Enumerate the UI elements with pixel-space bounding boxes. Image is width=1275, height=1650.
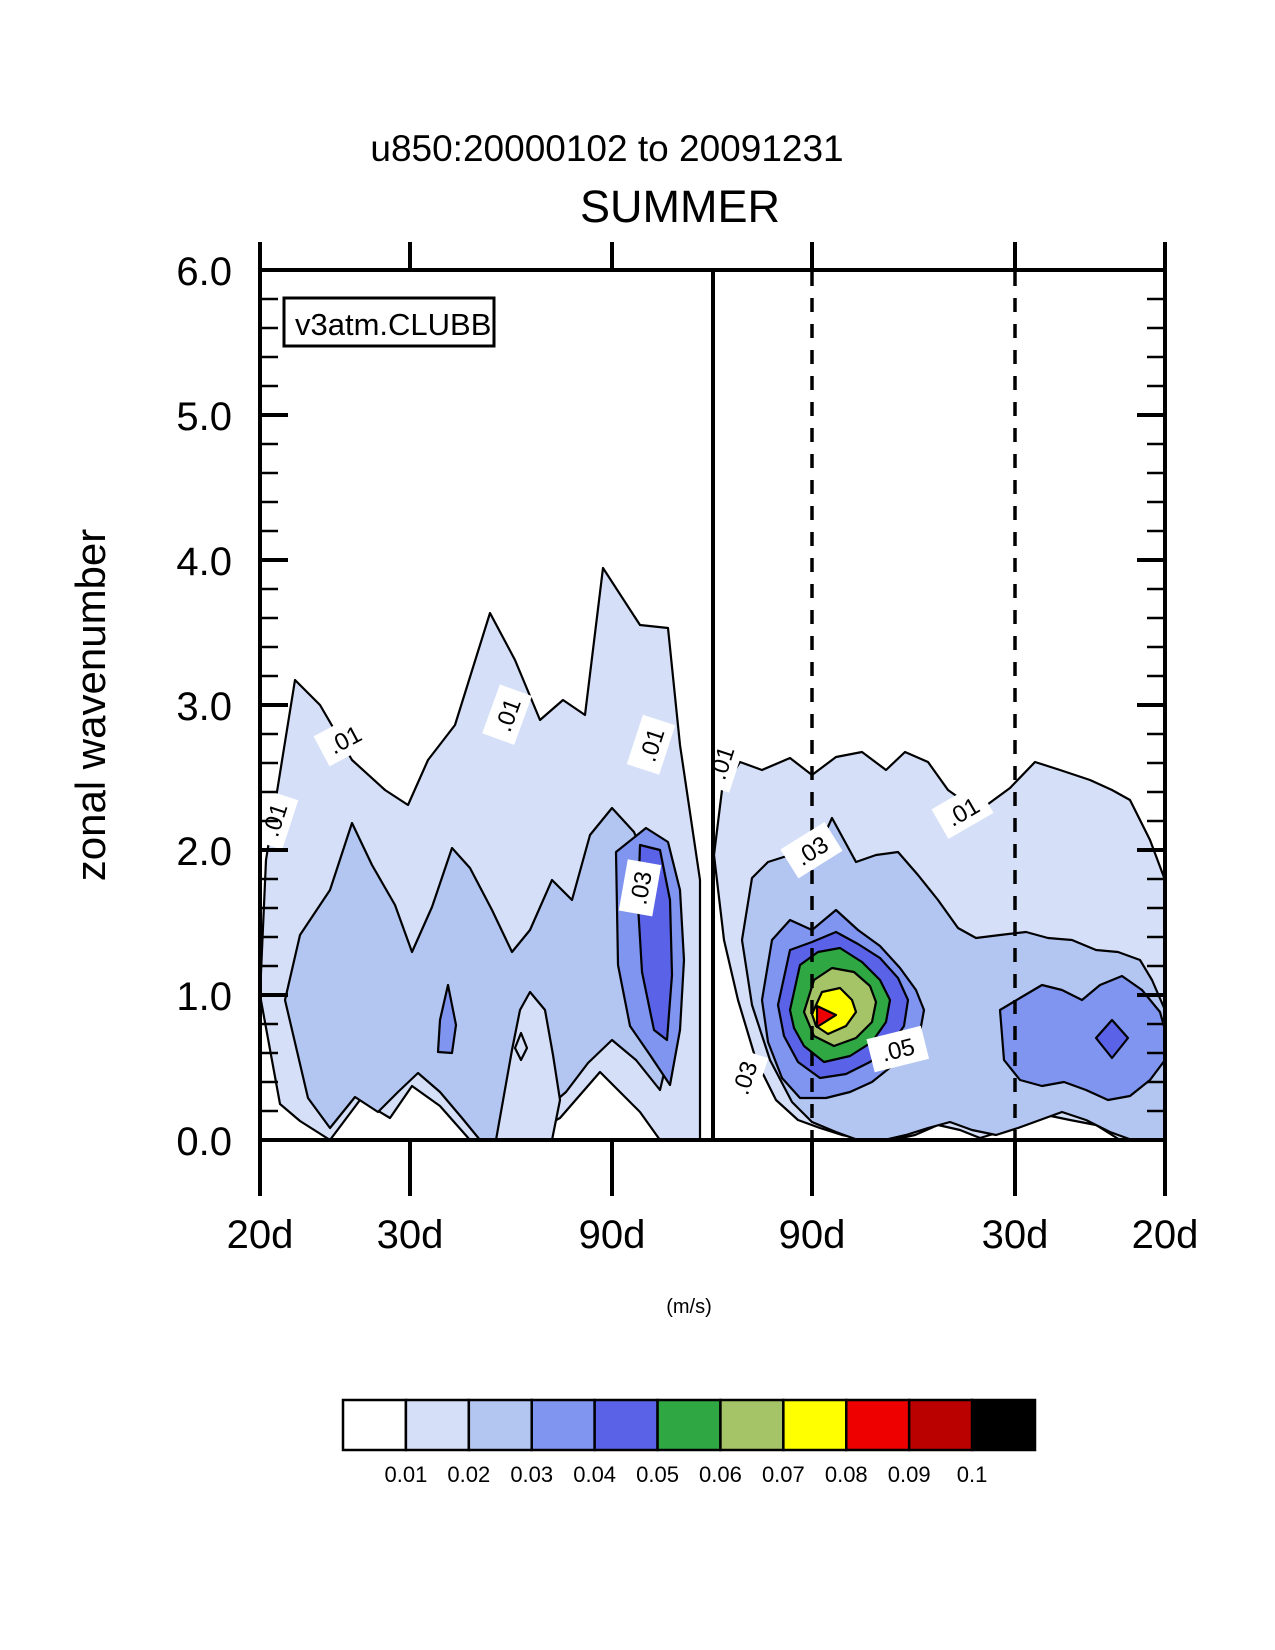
- colorbar-cell: [343, 1400, 406, 1450]
- y-tick-0: 0.0: [176, 1120, 232, 1164]
- y-tick-4: 4.0: [176, 540, 232, 584]
- colorbar-tick-label: 0.07: [762, 1462, 805, 1487]
- colorbar-tick-label: 0.06: [699, 1462, 742, 1487]
- y-axis-label: zonal wavenumber: [67, 529, 114, 882]
- colorbar-tick-label: 0.03: [510, 1462, 553, 1487]
- y-axis-label-group: zonal wavenumber: [67, 529, 114, 882]
- y-tick-3: 3.0: [176, 685, 232, 729]
- figure-root: u850:20000102 to 20091231 SUMMER zonal w…: [0, 0, 1275, 1650]
- x-tick-right-1: 30d: [982, 1213, 1049, 1257]
- x-tick-left-2: 90d: [579, 1213, 646, 1257]
- colorbar-tick-label: 0.1: [957, 1462, 988, 1487]
- colorbar-cell: [783, 1400, 846, 1450]
- colorbar-cell: [406, 1400, 469, 1450]
- colorbar-cell: [532, 1400, 595, 1450]
- x-tick-left-1: 30d: [377, 1213, 444, 1257]
- colorbar-cell: [909, 1400, 972, 1450]
- colorbar-cell: [846, 1400, 909, 1450]
- figure-title: u850:20000102 to 20091231: [370, 128, 843, 169]
- colorbar-tick-label: 0.02: [447, 1462, 490, 1487]
- colorbar-cell: [658, 1400, 721, 1450]
- id-box-label: v3atm.CLUBB: [295, 307, 491, 342]
- colorbar-cell: [972, 1400, 1035, 1450]
- colorbar-tick-label: 0.08: [825, 1462, 868, 1487]
- y-tick-2: 2.0: [176, 830, 232, 874]
- colorbar-tick-label: 0.09: [888, 1462, 931, 1487]
- svg-text:.03: .03: [625, 869, 657, 907]
- colorbar-tick-label: 0.05: [636, 1462, 679, 1487]
- x-tick-left-0: 20d: [227, 1213, 294, 1257]
- spectrum-figure: u850:20000102 to 20091231 SUMMER zonal w…: [0, 0, 1275, 1650]
- colorbar-cell: [720, 1400, 783, 1450]
- colorbar-units: (m/s): [666, 1296, 712, 1318]
- figure-subtitle: SUMMER: [580, 181, 780, 232]
- colorbar-cell: [469, 1400, 532, 1450]
- colorbar-tick-label: 0.01: [384, 1462, 427, 1487]
- y-tick-1: 1.0: [176, 975, 232, 1019]
- colorbar-cell: [595, 1400, 658, 1450]
- colorbar-tick-label: 0.04: [573, 1462, 616, 1487]
- x-tick-right-2: 20d: [1132, 1213, 1199, 1257]
- id-box: v3atm.CLUBB: [284, 298, 494, 346]
- y-tick-6: 6.0: [176, 250, 232, 294]
- x-tick-right-0: 90d: [779, 1213, 846, 1257]
- y-tick-5: 5.0: [176, 395, 232, 439]
- colorbar: [343, 1400, 1035, 1450]
